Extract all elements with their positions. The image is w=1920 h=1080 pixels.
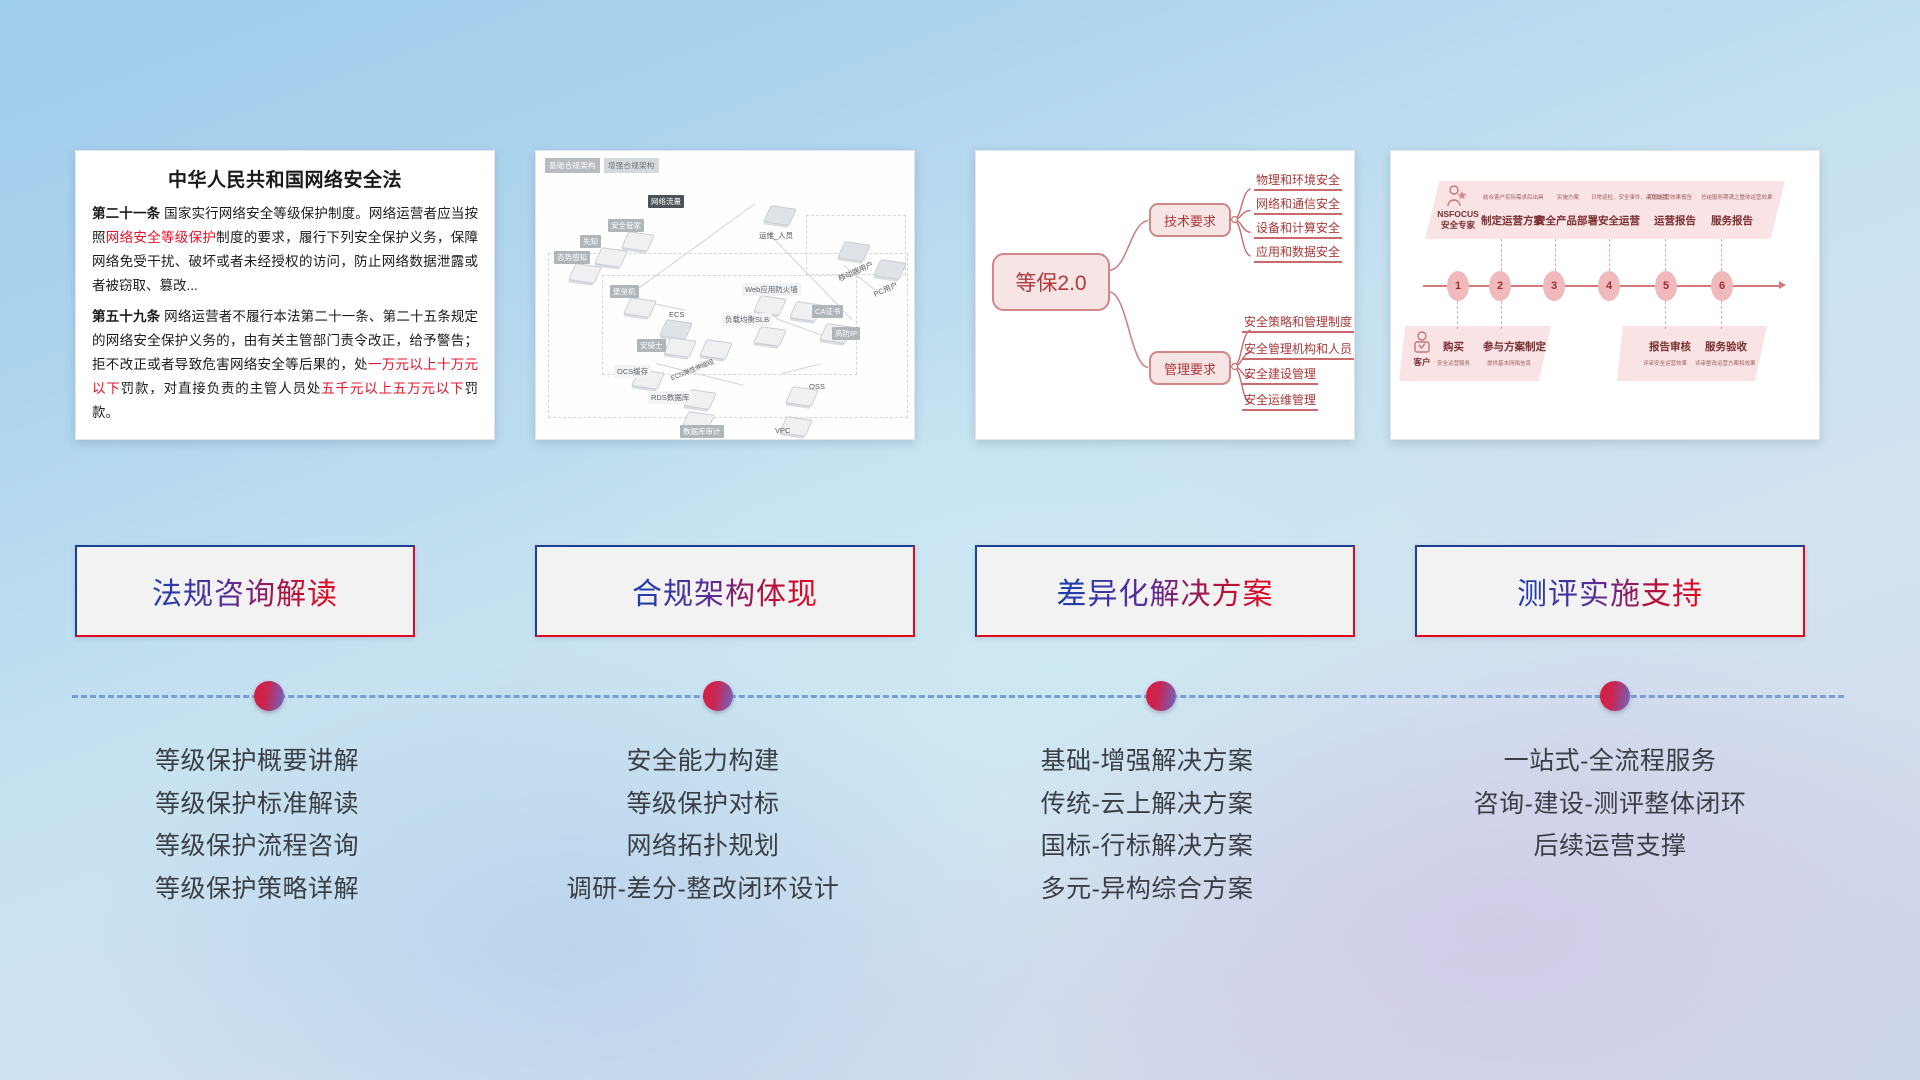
node-puck-icon [873,259,907,280]
step-dot[interactable]: 4 [1598,271,1620,301]
node-label-db-audit: 数据库审计 [680,425,724,438]
column-item: 等级保护标准解读 [92,783,422,826]
tab-basic-architecture[interactable]: 基础合规架构 [545,158,600,173]
article-59-label: 第五十九条 [92,309,160,324]
expert-label-line1: NSFOCUS [1437,209,1479,219]
timeline-node-1[interactable] [254,681,284,711]
node-label-bastion-host: 堡垒机 [610,285,639,298]
article-21-label: 第二十一条 [92,206,160,221]
column-item: 调研-差分-整改闭环设计 [538,868,868,911]
timeline-node-4[interactable] [1600,681,1630,711]
architecture-tabs: 基础合规架构 增强合规架构 [545,158,659,173]
node-anqishi [666,339,694,356]
leader-line [1457,301,1458,329]
headline-box-assessment-support[interactable]: 测评实施支持 [1415,545,1805,637]
architecture-diagram: 基础合规架构 增强合规架构 网络流量 安全管家 [536,151,914,439]
mindmap-root-node[interactable]: 等保2.0 [992,253,1110,311]
node-puck-icon [621,231,655,252]
node-label-network-traffic: 网络流量 [648,195,684,208]
node-label-safety-steward: 安全管家 [608,219,644,232]
law-article-21: 第二十一条 国家实行网络安全等级保护制度。网络运营者应当按照网络安全等级保护制度… [92,202,478,298]
column-item: 一站式-全流程服务 [1440,740,1780,783]
headline-box-compliance-architecture[interactable]: 合规架构体现 [535,545,915,637]
law-title: 中华人民共和国网络安全法 [92,165,478,192]
mindmap-leaf: 安全运维管理 [1242,391,1318,411]
mindmap-leaf: 物理和环境安全 [1254,171,1342,191]
customer-step-sub: 评审整改运营方案和效果 [1695,359,1756,367]
node-situational-awareness [571,265,599,282]
expert-label: NSFOCUS 安全专家 [1429,209,1487,230]
leader-line [1501,301,1502,329]
mindmap-branch-management[interactable]: 管理要求 [1149,351,1231,385]
customer-step-title: 购买 [1443,339,1464,354]
card-compliance-architecture[interactable]: 基础合规架构 增强合规架构 网络流量 安全管家 [535,150,915,440]
headline-label: 差异化解决方案 [1057,569,1274,613]
node-puck-icon [594,247,628,268]
step-dot[interactable]: 6 [1711,271,1733,301]
expert-label-line2: 安全专家 [1441,220,1475,230]
node-label-waf: Web应用防火墙 [742,283,801,296]
headline-box-differentiated-solution[interactable]: 差异化解决方案 [975,545,1355,637]
customer-step-sub: 安全运营服务 [1437,359,1470,367]
node-slb [756,328,784,345]
step-dot[interactable]: 1 [1447,271,1469,301]
mindmap-leaf: 网络和通信安全 [1254,195,1342,215]
tab-enhanced-architecture[interactable]: 增强合规架构 [604,158,659,173]
step-sub: 阶段运营效果报告 [1648,193,1692,201]
column-item: 等级保护对标 [538,783,868,826]
column-compliance-architecture: 安全能力构建 等级保护对标 网络拓扑规划 调研-差分-整改闭环设计 [538,740,868,910]
step-title: 服务报告 [1711,213,1753,228]
customer-step-sub: 评审安全运营效果 [1643,359,1687,367]
column-item: 传统-云上解决方案 [982,783,1312,826]
node-label-xianzhi: 先知 [580,235,601,248]
article-21-highlight: 网络安全等级保护 [106,230,216,245]
column-item: 安全能力构建 [538,740,868,783]
node-puck-icon [663,337,697,358]
headline-label: 法规咨询解读 [152,569,338,613]
customer-step-title: 服务验收 [1705,339,1747,354]
leader-line [1665,301,1666,329]
customer-step-sub: 提供基本网络信息 [1487,359,1531,367]
node-ops-staff [766,207,794,224]
node-ecs [662,321,690,338]
column-item: 后续运营支撑 [1440,825,1780,868]
mindmap: 等保2.0 技术要求 管理要求 物理和环境安全 网络和通信安全 设备和计算安全 … [976,151,1354,439]
headline-label: 合规架构体现 [632,569,818,613]
mindmap-leaf: 安全建设管理 [1242,365,1318,385]
card-mindmap-dengbao[interactable]: 等保2.0 技术要求 管理要求 物理和环境安全 网络和通信安全 设备和计算安全 … [975,150,1355,440]
nsfocus-timeline: NSFOCUS 安全专家 客户 1 2 3 4 5 6 [1391,151,1819,439]
column-item: 咨询-建设-测评整体闭环 [1440,783,1780,826]
node-safety-steward [624,233,652,250]
expert-person-icon [1445,185,1469,207]
step-sub: 总结服务期满之整体运营效果 [1701,193,1773,201]
architecture-canvas: 网络流量 安全管家 先知 态势感知 堡垒机 运维_人员 Web应用防火墙 负载均… [544,173,906,431]
leader-line [1609,239,1610,271]
card-nsfocus-process[interactable]: NSFOCUS 安全专家 客户 1 2 3 4 5 6 [1390,150,1820,440]
node-label-ops-staff: 运维_人员 [756,229,796,242]
leader-line [1501,239,1502,271]
mindmap-branch-technical[interactable]: 技术要求 [1149,203,1231,237]
headline-box-regulation-consulting[interactable]: 法规咨询解读 [75,545,415,637]
mindmap-leaf: 安全策略和管理制度 [1242,313,1354,333]
step-title: 安全运营 [1598,213,1640,228]
article-59-highlight-2: 五千元以上五万元以下 [321,381,464,396]
column-item: 多元-异构综合方案 [982,868,1312,911]
leader-line [1721,301,1722,329]
node-label-slb: 负载均衡SLB [722,313,772,326]
customer-step-title: 参与方案制定 [1483,339,1546,354]
timeline-dashed-line [72,695,1844,698]
column-item: 国标-行标解决方案 [982,825,1312,868]
node-label-anqishi: 安骑士 [637,339,666,352]
column-item: 网络拓扑规划 [538,825,868,868]
leader-line [1665,239,1666,271]
leader-line [1555,239,1556,271]
timeline-node-3[interactable] [1146,681,1176,711]
node-bastion-host [626,299,654,316]
mindmap-leaf: 设备和计算安全 [1254,219,1342,239]
leader-line [1721,239,1722,271]
step-dot[interactable]: 5 [1655,271,1677,301]
node-label-ecs: ECS [666,309,687,320]
mindmap-leaf: 安全管理机构和人员 [1242,340,1354,360]
step-sub: 结合客户实际需求后出具 [1483,193,1544,201]
mindmap-leaf: 应用和数据安全 [1254,243,1342,263]
node-xianzhi [597,249,625,266]
node-puck-icon [568,263,602,284]
column-regulation-consulting: 等级保护概要讲解 等级保护标准解读 等级保护流程咨询 等级保护策略详解 [92,740,422,910]
node-label-anti-ddos-ip: 高防IP [832,327,860,340]
column-item: 等级保护流程咨询 [92,825,422,868]
headline-label: 测评实施支持 [1517,569,1703,613]
column-assessment-support: 一站式-全流程服务 咨询-建设-测评整体闭环 后续运营支撑 [1440,740,1780,868]
timeline-node-2[interactable] [703,681,733,711]
step-dot[interactable]: 2 [1489,271,1511,301]
column-item: 等级保护概要讲解 [92,740,422,783]
node-label-ca-cert: CA证书 [812,305,843,318]
customer-label: 客户 [1409,357,1435,368]
node-puck-icon [659,319,693,340]
law-article-59: 第五十九条 网络运营者不履行本法第二十一条、第二十五条规定的网络安全保护义务的，… [92,305,478,425]
node-pc-user [876,261,904,278]
step-title: 运营报告 [1654,213,1696,228]
node-label-oss: OSS [806,381,828,392]
card-cybersecurity-law[interactable]: 中华人民共和国网络安全法 第二十一条 国家实行网络安全等级保护制度。网络运营者应… [75,150,495,440]
customer-person-icon [1411,331,1433,355]
headline-row: 法规咨询解读 合规架构体现 差异化解决方案 测评实施支持 [0,545,1920,645]
customer-step-title: 报告审核 [1649,339,1691,354]
node-label-rds-database: RDS数据库 [648,391,692,404]
node-puck-icon [753,326,787,347]
step-title: 安全产品部署 [1535,213,1598,228]
node-puck-icon [623,297,657,318]
column-differentiated-solution: 基础-增强解决方案 传统-云上解决方案 国标-行标解决方案 多元-异构综合方案 [982,740,1312,910]
node-mobile-user [840,243,868,260]
law-document: 中华人民共和国网络安全法 第二十一条 国家实行网络安全等级保护制度。网络运营者应… [76,151,494,440]
node-label-vpc: VPC [772,425,793,436]
node-label-situational-awareness: 态势感知 [554,251,590,264]
timeline-arrow-icon [1779,281,1786,289]
node-label-ocs-cache: OCS缓存 [614,365,651,378]
node-waf [756,297,784,314]
column-item: 基础-增强解决方案 [982,740,1312,783]
article-59-text-b: 罚款，对直接负责的主管人员处 [121,381,322,396]
preview-cards-row: 中华人民共和国网络安全法 第二十一条 国家实行网络安全等级保护制度。网络运营者应… [0,150,1920,450]
node-puck-icon [763,205,797,226]
column-item: 等级保护策略详解 [92,868,422,911]
step-dot[interactable]: 3 [1543,271,1565,301]
step-sub: 实施方案 [1557,193,1579,201]
